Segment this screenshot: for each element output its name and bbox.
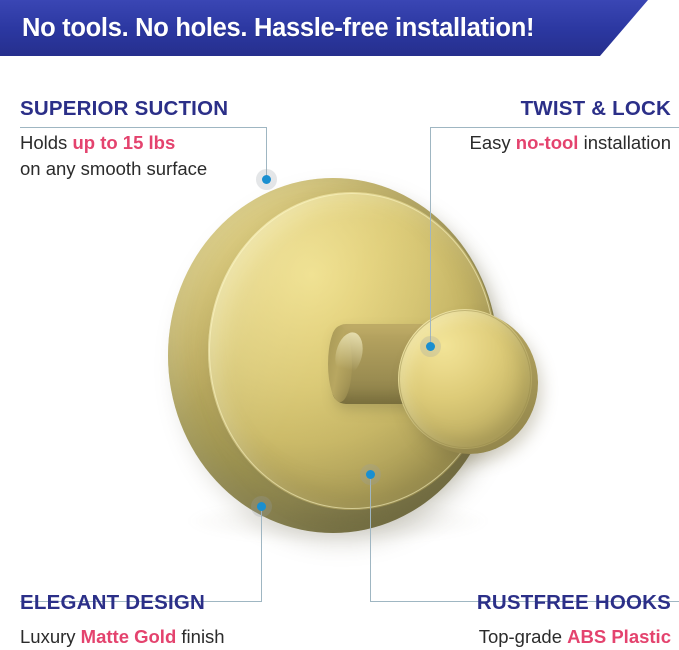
- callout-twist-lock-line1-post: installation: [578, 132, 671, 153]
- infographic-canvas: No tools. No holes. Hassle-free installa…: [0, 0, 679, 650]
- callout-rustfree-hooks-line1-highlight: ABS Plastic: [567, 626, 671, 647]
- callout-rustfree-hooks-line1-pre: Top-grade: [479, 626, 567, 647]
- callout-superior-suction-line1-pre: Holds: [20, 132, 72, 153]
- callout-rustfree-hooks-title: RUSTFREE HOOKS: [477, 592, 671, 615]
- callout-rustfree-hooks-line1: Top-grade ABS Plastic: [477, 624, 671, 650]
- connector-line-elegant-design-vertical: [261, 506, 262, 602]
- connector-line-rustfree-hooks-vertical: [370, 474, 371, 602]
- callout-twist-lock-title: TWIST & LOCK: [469, 98, 671, 121]
- callout-superior-suction-line2: on any smooth surface: [20, 156, 228, 182]
- callout-twist-lock-line1-pre: Easy: [469, 132, 515, 153]
- callout-elegant-design-line1: Luxury Matte Gold finish: [20, 624, 225, 650]
- marker-superior-suction[interactable]: [262, 175, 271, 184]
- marker-twist-lock[interactable]: [426, 342, 435, 351]
- marker-elegant-design[interactable]: [257, 502, 266, 511]
- marker-rustfree-hooks[interactable]: [366, 470, 375, 479]
- callout-rustfree-hooks: RUSTFREE HOOKS Top-grade ABS Plastic: [477, 592, 671, 650]
- callout-twist-lock-line1: Easy no-tool installation: [469, 130, 671, 156]
- callout-superior-suction-line1: Holds up to 15 lbs: [20, 130, 228, 156]
- callout-elegant-design: ELEGANT DESIGN Luxury Matte Gold finish: [20, 592, 225, 650]
- callout-twist-lock: TWIST & LOCK Easy no-tool installation: [469, 98, 671, 156]
- connector-line-superior-suction-vertical: [266, 127, 267, 181]
- callout-superior-suction-title: SUPERIOR SUCTION: [20, 98, 228, 121]
- connector-line-twist-lock-vertical: [430, 127, 431, 348]
- hook-knob-rim: [399, 310, 531, 448]
- callout-superior-suction-line1-highlight: up to 15 lbs: [72, 132, 175, 153]
- callout-twist-lock-line1-highlight: no-tool: [516, 132, 579, 153]
- callout-elegant-design-title: ELEGANT DESIGN: [20, 592, 225, 615]
- callout-superior-suction: SUPERIOR SUCTION Holds up to 15 lbs on a…: [20, 98, 228, 182]
- callout-elegant-design-line1-highlight: Matte Gold: [81, 626, 177, 647]
- callout-elegant-design-line1-post: finish: [176, 626, 224, 647]
- callout-elegant-design-line1-pre: Luxury: [20, 626, 81, 647]
